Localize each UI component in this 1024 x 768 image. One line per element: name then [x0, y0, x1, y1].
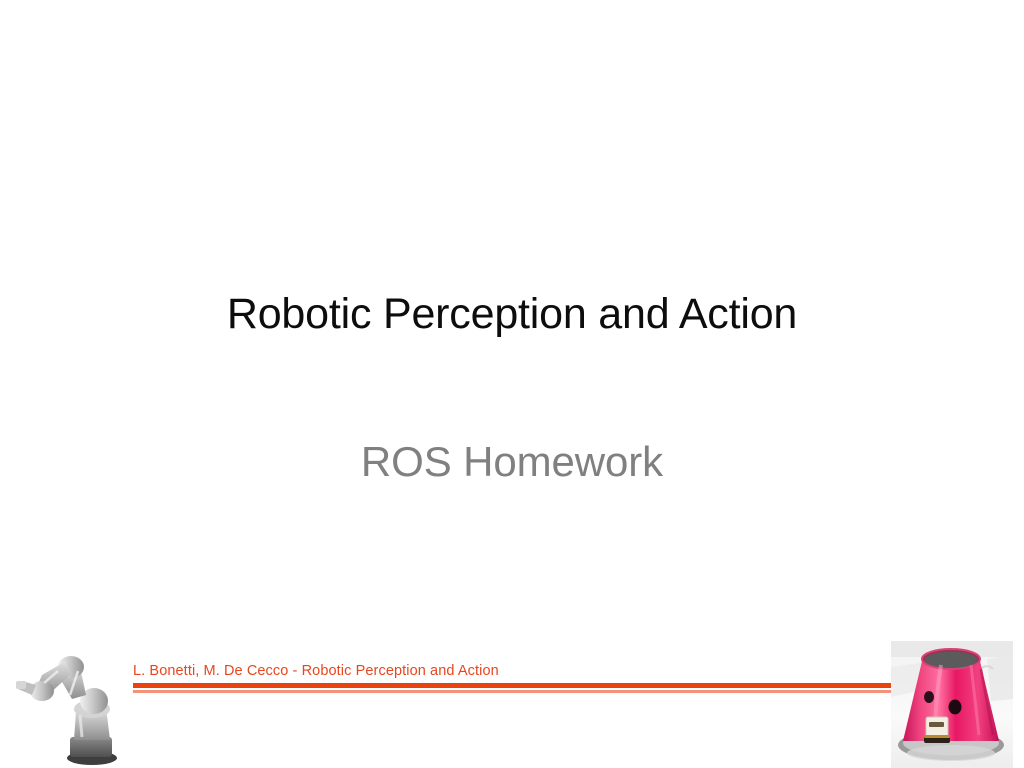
page-subtitle: ROS Homework [0, 440, 1024, 484]
footer-caption: L. Bonetti, M. De Cecco - Robotic Percep… [133, 663, 499, 679]
pink-cone-robot-photo [891, 641, 1013, 768]
footer-divider [133, 683, 893, 694]
title-block: Robotic Perception and Action [0, 292, 1024, 337]
subtitle-block: ROS Homework [0, 440, 1024, 484]
robot-sensor-hole-left [924, 691, 934, 703]
page-title: Robotic Perception and Action [0, 292, 1024, 337]
robot-arm-photo [14, 645, 138, 768]
arm-end-effector [16, 681, 26, 689]
slide-canvas: Robotic Perception and Action ROS Homewo… [0, 0, 1024, 768]
robot-sensor-hole-right [949, 700, 962, 715]
footer-divider-thin-bar [133, 690, 893, 693]
robot-attached-module [924, 717, 950, 743]
